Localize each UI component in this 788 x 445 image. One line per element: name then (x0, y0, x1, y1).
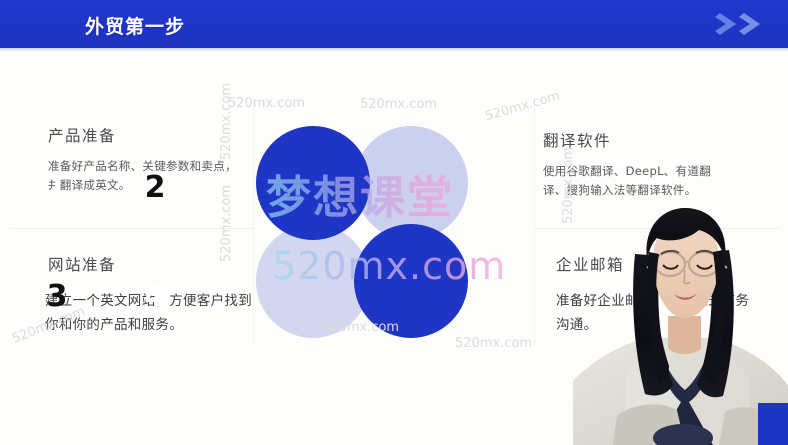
page-title: 外贸第一步 (85, 12, 185, 39)
watermark-tile: 520mx.com (483, 89, 561, 125)
watermark-tile: 520mx.com (228, 96, 305, 111)
pinwheel-petal-2 (354, 126, 468, 240)
pinwheel-number-2: 2 (98, 170, 212, 205)
four-circle-pinwheel-diagram (256, 126, 468, 338)
slide-canvas: 外贸第一步 产品准备 准备好产品名称、关键参数和卖点，并翻译成英文。 翻译软件 … (0, 0, 788, 445)
watermark-tile: 520mx.com (455, 336, 532, 351)
slide-header-bar: 外贸第一步 (0, 0, 788, 48)
quadrant-title: 翻译软件 (543, 129, 743, 151)
pinwheel-number-1: 1 (0, 170, 114, 205)
quadrant-title: 产品准备 (48, 124, 253, 146)
header-underline (0, 48, 788, 51)
divider-vertical-right (534, 96, 535, 346)
watermark-tile: 520mx.com (219, 185, 234, 262)
quadrant-translation-software: 翻译软件 使用谷歌翻译、DeepL、有道翻译、搜狗输入法等翻译软件。 (543, 129, 743, 200)
presenter-video-cutout (573, 198, 788, 445)
divider-horizontal-left (10, 228, 255, 229)
double-chevron-right-icon (714, 9, 770, 39)
corner-accent-badge (758, 403, 788, 445)
pinwheel-number-3: 3 (0, 279, 114, 314)
pinwheel-petal-1 (256, 126, 370, 240)
pinwheel-petal-3 (256, 224, 370, 338)
quadrant-body: 使用谷歌翻译、DeepL、有道翻译、搜狗输入法等翻译软件。 (543, 162, 713, 200)
pinwheel-number-4: 4 (98, 279, 212, 314)
pinwheel-petal-4 (354, 224, 468, 338)
quadrant-title: 网站准备 (48, 253, 263, 275)
watermark-tile: 520mx.com (360, 97, 437, 112)
